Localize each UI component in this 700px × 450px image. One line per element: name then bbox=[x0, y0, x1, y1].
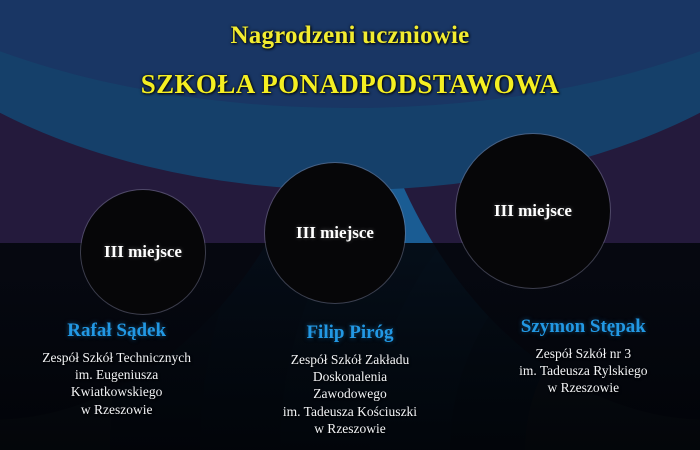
winner-school-line: w Rzeszowie bbox=[473, 379, 694, 396]
page-subtitle: SZKOŁA PONADPODSTAWOWA bbox=[0, 70, 700, 100]
winner-school-line: w Rzeszowie bbox=[239, 420, 460, 437]
winner-name-3: Szymon Stępak bbox=[473, 316, 694, 338]
winner-school-line: Zespół Szkół nr 3 bbox=[473, 345, 694, 362]
winner-name-1: Rafał Sądek bbox=[6, 320, 227, 342]
winner-school-1: Zespół Szkół Technicznych im. Eugeniusza… bbox=[6, 349, 227, 418]
award-circle-3: III miejsce bbox=[456, 134, 610, 288]
winner-school-line: w Rzeszowie bbox=[6, 401, 227, 418]
winner-school-line: Kwiatkowskiego bbox=[6, 383, 227, 400]
award-place-label-3: III miejsce bbox=[494, 201, 572, 221]
winner-name-2: Filip Piróg bbox=[239, 322, 460, 344]
winner-school-line: im. Tadeusza Rylskiego bbox=[473, 362, 694, 379]
awards-slide: Nagrodzeni uczniowie SZKOŁA PONADPODSTAW… bbox=[0, 0, 700, 450]
award-place-label-2: III miejsce bbox=[296, 223, 374, 243]
winner-school-line: im. Eugeniusza bbox=[6, 366, 227, 383]
page-title: Nagrodzeni uczniowie bbox=[0, 22, 700, 50]
award-circle-2: III miejsce bbox=[265, 163, 405, 303]
winner-school-3: Zespół Szkół nr 3 im. Tadeusza Rylskiego… bbox=[473, 345, 694, 397]
award-place-label-1: III miejsce bbox=[104, 242, 182, 262]
winner-school-line: Doskonalenia bbox=[239, 368, 460, 385]
winners-row: Rafał Sądek Zespół Szkół Technicznych im… bbox=[0, 316, 700, 450]
winner-school-2: Zespół Szkół Zakładu Doskonalenia Zawodo… bbox=[239, 351, 460, 437]
winner-school-line: Zawodowego bbox=[239, 385, 460, 402]
winner-column-1: Rafał Sądek Zespół Szkół Technicznych im… bbox=[0, 320, 233, 450]
winner-column-2: Filip Piróg Zespół Szkół Zakładu Doskona… bbox=[233, 322, 466, 450]
winner-school-line: Zespół Szkół Zakładu bbox=[239, 351, 460, 368]
award-circle-1: III miejsce bbox=[81, 190, 205, 314]
winner-school-line: Zespół Szkół Technicznych bbox=[6, 349, 227, 366]
heading-block: Nagrodzeni uczniowie SZKOŁA PONADPODSTAW… bbox=[0, 22, 700, 99]
winner-school-line: im. Tadeusza Kościuszki bbox=[239, 403, 460, 420]
winner-column-3: Szymon Stępak Zespół Szkół nr 3 im. Tade… bbox=[467, 316, 700, 450]
